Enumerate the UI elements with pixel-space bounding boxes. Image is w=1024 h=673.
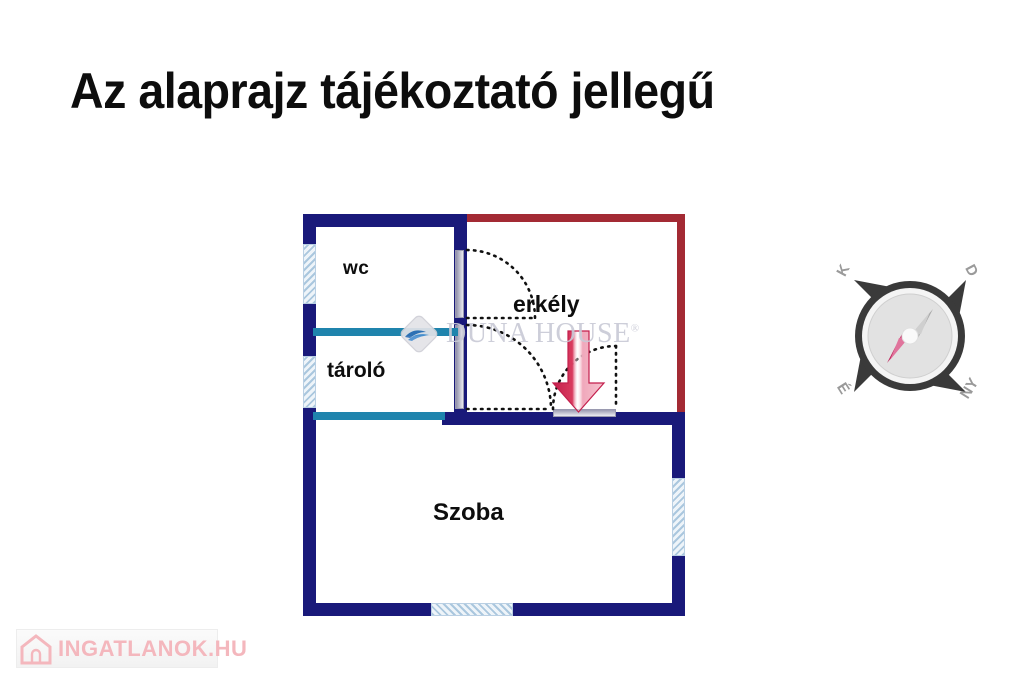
entrance-arrow-icon (553, 331, 604, 412)
room-label-szoba: Szoba (433, 499, 504, 527)
house-icon (19, 632, 53, 665)
room-label-tarolo: tároló (327, 359, 385, 383)
ingatlanok-hu-badge[interactable]: INGATLANOK.HU (16, 629, 218, 668)
compass-hub (902, 328, 918, 344)
floor-plan: wc tároló erkély Szoba (295, 212, 705, 627)
compass-rose: K D NY É (826, 252, 994, 420)
arc-tarolo (467, 325, 551, 409)
room-label-erkely: erkély (513, 291, 580, 318)
page-title: Az alaprajz tájékoztató jellegű (70, 62, 888, 120)
ingatlanok-hu-label: INGATLANOK.HU (58, 636, 247, 662)
room-label-wc: wc (343, 258, 369, 280)
